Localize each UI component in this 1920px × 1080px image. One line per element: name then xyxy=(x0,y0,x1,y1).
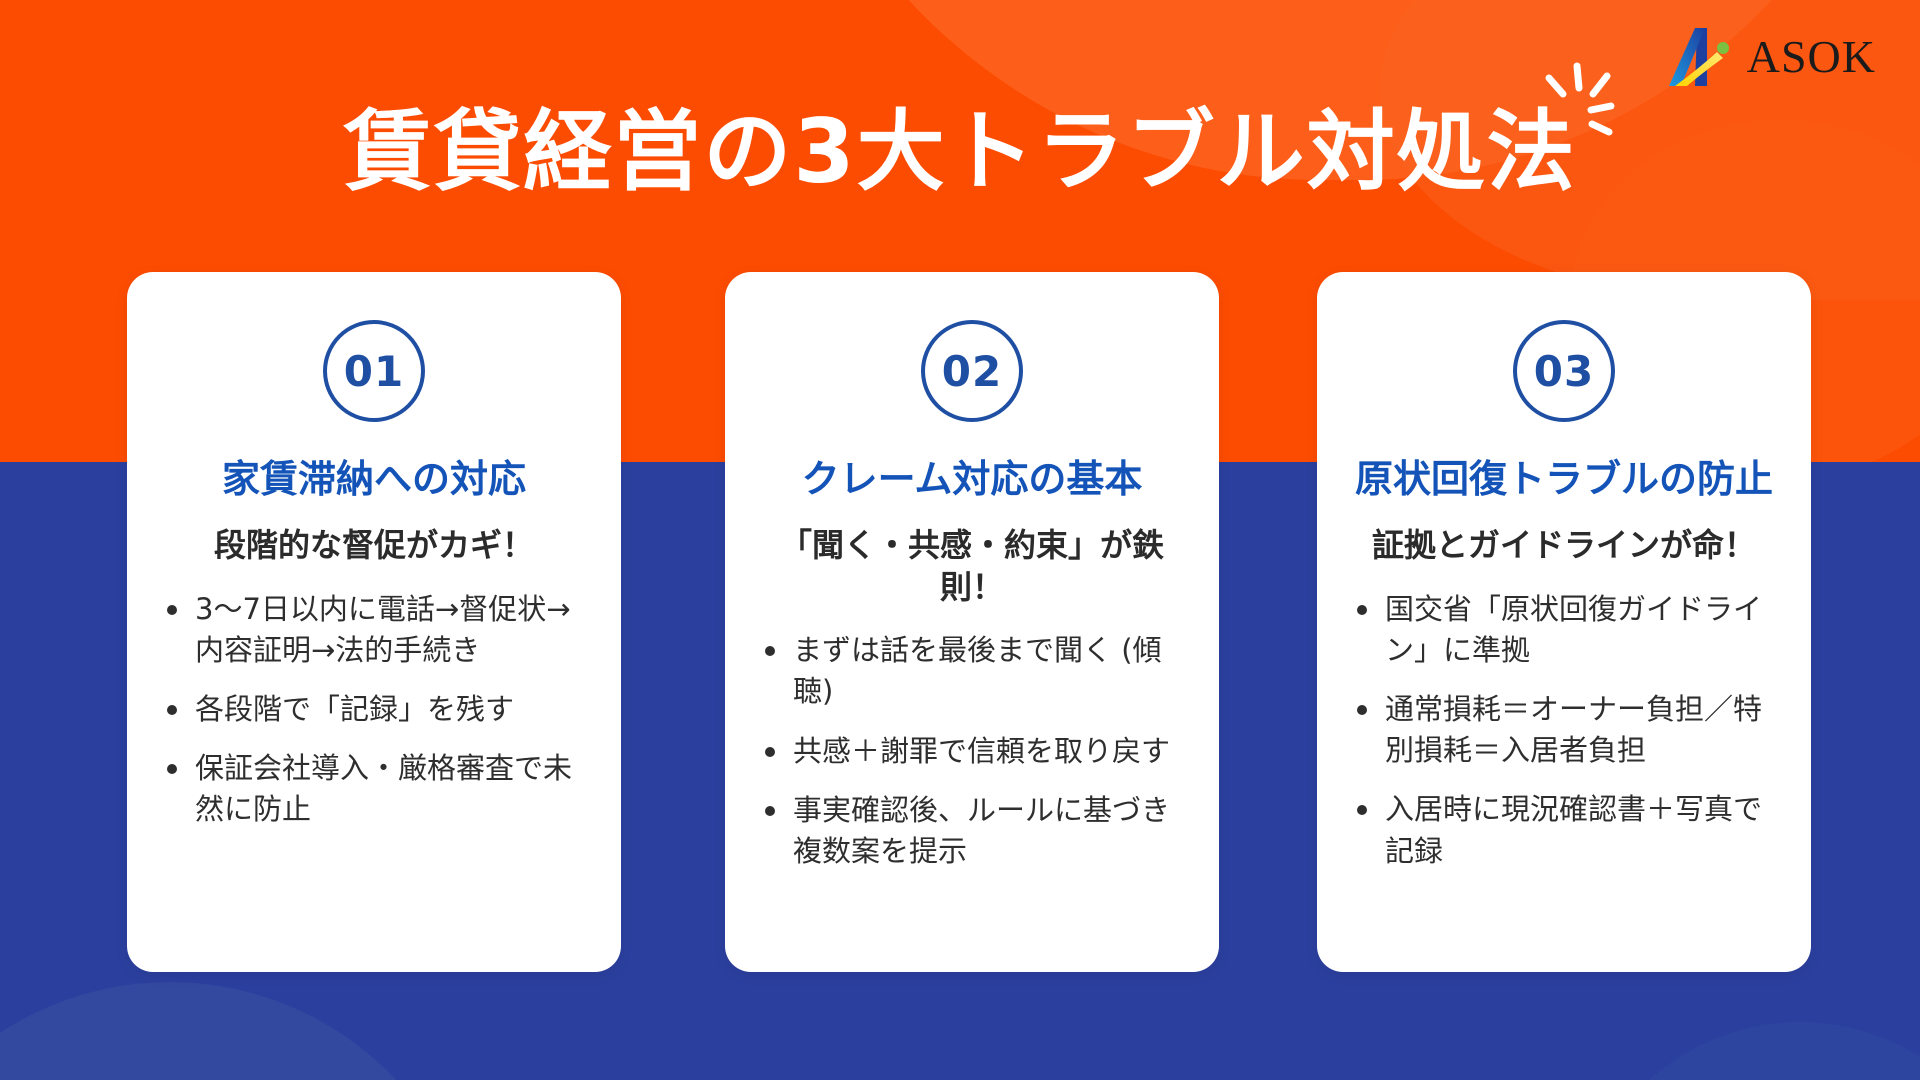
page-title-text: 賃貸経営の3大トラブル対処法 xyxy=(343,104,1576,201)
list-item: 各段階で「記録」を残す xyxy=(195,689,591,730)
brand-name-label: ASOK xyxy=(1747,34,1876,80)
card-bullet-list: 国交省「原状回復ガイドライン」に準拠 通常損耗＝オーナー負担／特別損耗＝入居者負… xyxy=(1343,589,1785,872)
card-subtitle: 「聞く・共感・約束」が鉄則！ xyxy=(751,525,1193,608)
card-subtitle: 証拠とガイドラインが命！ xyxy=(1343,525,1785,567)
card-number-badge: 02 xyxy=(921,320,1023,422)
card-bullet-list: まずは話を最後まで聞く (傾聴) 共感＋謝罪で信頼を取り戻す 事実確認後、ルール… xyxy=(751,630,1193,872)
list-item: 3〜7日以内に電話→督促状→内容証明→法的手続き xyxy=(195,589,591,671)
list-item: 国交省「原状回復ガイドライン」に準拠 xyxy=(1385,589,1781,671)
decorative-blob-blue-1 xyxy=(0,982,480,1080)
card-title: 家賃滞納への対応 xyxy=(153,456,595,503)
page-title: 賃貸経営の3大トラブル対処法 xyxy=(0,104,1920,201)
list-item: 保証会社導入・厳格審査で未然に防止 xyxy=(195,748,591,830)
card-03[interactable]: 03 原状回復トラブルの防止 証拠とガイドラインが命！ 国交省「原状回復ガイドラ… xyxy=(1317,272,1811,972)
brand-logo: ASOK xyxy=(1667,26,1876,88)
card-number-badge: 01 xyxy=(323,320,425,422)
list-item: まずは話を最後まで聞く (傾聴) xyxy=(793,630,1189,712)
list-item: 共感＋謝罪で信頼を取り戻す xyxy=(793,731,1189,772)
sparkle-burst-icon xyxy=(1533,62,1625,154)
card-title: クレーム対応の基本 xyxy=(751,456,1193,503)
card-title: 原状回復トラブルの防止 xyxy=(1343,456,1785,503)
card-number-badge: 03 xyxy=(1513,320,1615,422)
slide-root: ASOK 賃貸経営の3大トラブル対処法 01 家賃滞納への対応 段階的な督促がカ… xyxy=(0,0,1920,1080)
card-bullet-list: 3〜7日以内に電話→督促状→内容証明→法的手続き 各段階で「記録」を残す 保証会… xyxy=(153,589,595,831)
list-item: 事実確認後、ルールに基づき複数案を提示 xyxy=(793,790,1189,872)
card-subtitle: 段階的な督促がカギ！ xyxy=(153,525,595,567)
asok-mark-icon xyxy=(1667,26,1741,88)
list-item: 入居時に現況確認書＋写真で記録 xyxy=(1385,789,1781,871)
list-item: 通常損耗＝オーナー負担／特別損耗＝入居者負担 xyxy=(1385,689,1781,771)
decorative-blob-blue-4 xyxy=(1560,1022,1920,1080)
cards-container: 01 家賃滞納への対応 段階的な督促がカギ！ 3〜7日以内に電話→督促状→内容証… xyxy=(0,272,1920,972)
card-01[interactable]: 01 家賃滞納への対応 段階的な督促がカギ！ 3〜7日以内に電話→督促状→内容証… xyxy=(127,272,621,972)
card-02[interactable]: 02 クレーム対応の基本 「聞く・共感・約束」が鉄則！ まずは話を最後まで聞く … xyxy=(725,272,1219,972)
